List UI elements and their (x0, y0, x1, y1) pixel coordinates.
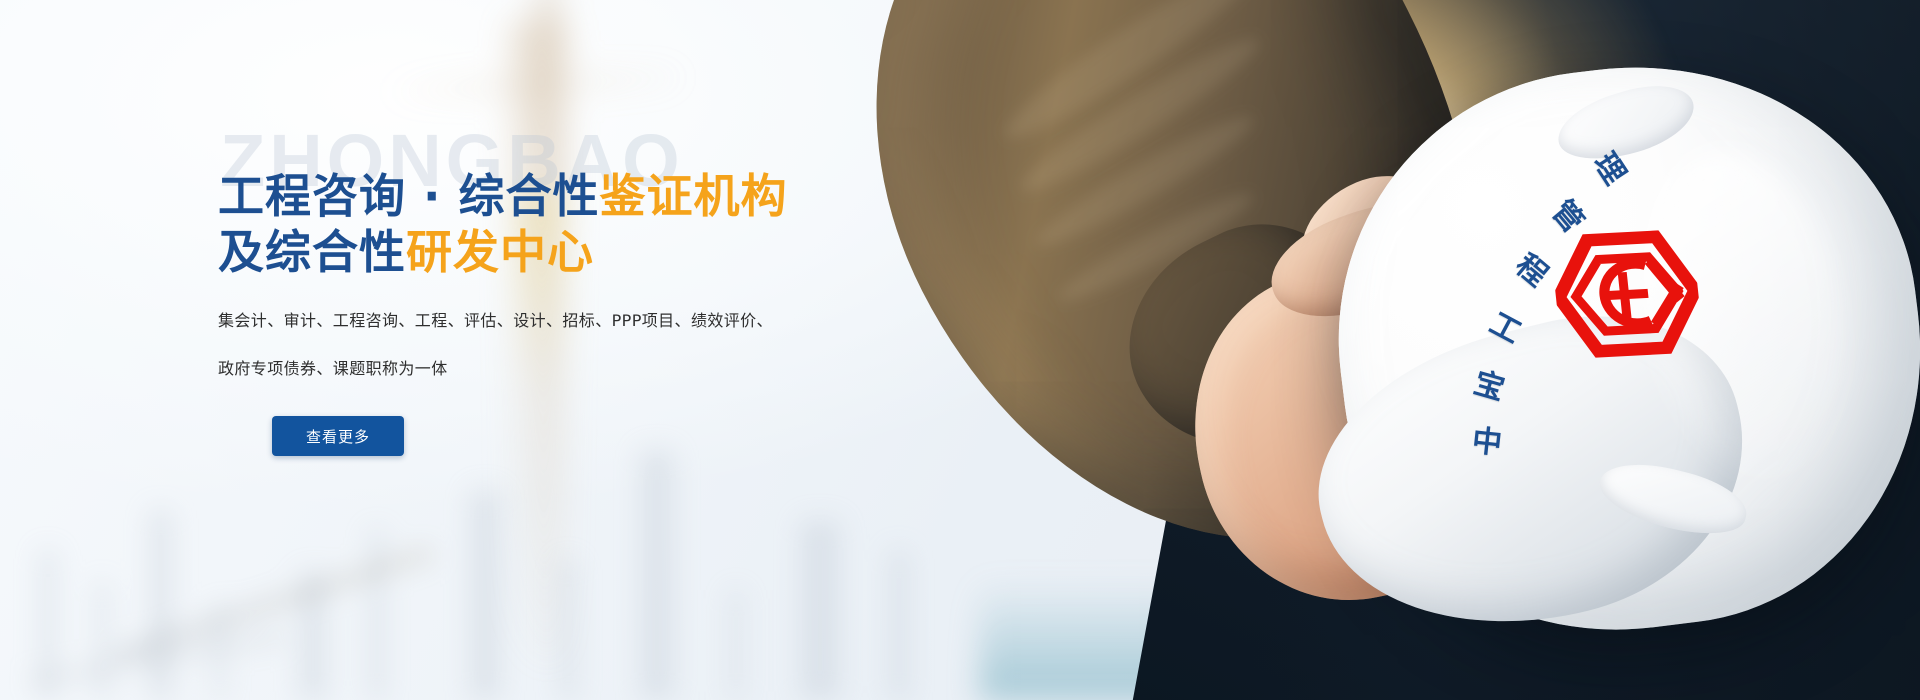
hero-description: 集会计、审计、工程咨询、工程、评估、设计、招标、PPP项目、绩效评价、 政府专项… (218, 310, 818, 406)
helmet-char: 程 (1510, 250, 1552, 292)
helmet-char: 工 (1485, 309, 1526, 350)
helmet-char: 中 (1471, 427, 1504, 460)
helmet-char: 管 (1546, 196, 1588, 238)
view-more-button[interactable]: 查看更多 (272, 416, 404, 456)
headline-line-1: 工程咨询 · 综合性鉴证机构 (218, 168, 1038, 224)
hero-banner: 理 管 程 工 宝 中 ZHONGBAO 工程咨询 · 综合性鉴证机构 及综合性… (0, 0, 1920, 700)
description-line-1: 集会计、审计、工程咨询、工程、评估、设计、招标、PPP项目、绩效评价、 (218, 310, 818, 332)
headline-line-1-blue: 工程咨询 · 综合性 (218, 169, 600, 223)
headline-line-2: 及综合性研发中心 (218, 224, 1038, 280)
page-title: 工程咨询 · 综合性鉴证机构 及综合性研发中心 (218, 168, 1038, 280)
helmet-char: 宝 (1470, 368, 1507, 405)
helmet-curved-text: 理 管 程 工 宝 中 (1442, 146, 1682, 446)
headline-line-2-blue: 及综合性 (218, 225, 406, 279)
helmet-char: 理 (1588, 148, 1629, 189)
headline-line-2-orange: 研发中心 (406, 225, 594, 279)
headline-line-1-orange: 鉴证机构 (600, 169, 788, 223)
hero-content: ZHONGBAO 工程咨询 · 综合性鉴证机构 及综合性研发中心 集会计、审计、… (218, 0, 1038, 700)
description-line-2: 政府专项债券、课题职称为一体 (218, 358, 818, 380)
